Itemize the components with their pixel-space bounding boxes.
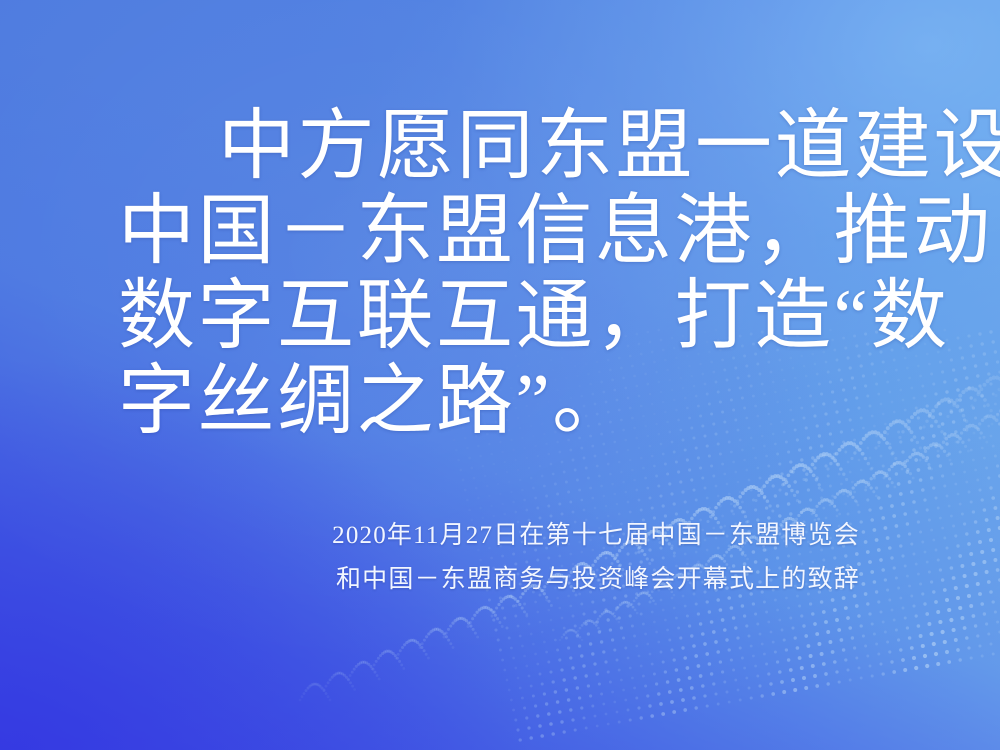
attribution-text: 2020年11月27日在第十七届中国－东盟博览会 和中国－东盟商务与投资峰会开幕… bbox=[0, 514, 860, 602]
quote-text: 中方愿同东盟一道建设 中国－东盟信息港，推动 数字互联互通，打造“数 字丝绸之路… bbox=[118, 104, 908, 444]
quote-line-2: 中国－东盟信息港，推动 bbox=[118, 189, 908, 274]
quote-card: 中方愿同东盟一道建设 中国－东盟信息港，推动 数字互联互通，打造“数 字丝绸之路… bbox=[0, 0, 1000, 750]
attribution-line-2: 和中国－东盟商务与投资峰会开幕式上的致辞 bbox=[0, 558, 860, 602]
attribution-line-1: 2020年11月27日在第十七届中国－东盟博览会 bbox=[0, 514, 860, 558]
quote-line-4: 字丝绸之路”。 bbox=[118, 359, 908, 444]
quote-line-3: 数字互联互通，打造“数 bbox=[118, 274, 908, 359]
quote-line-1: 中方愿同东盟一道建设 bbox=[118, 104, 908, 189]
